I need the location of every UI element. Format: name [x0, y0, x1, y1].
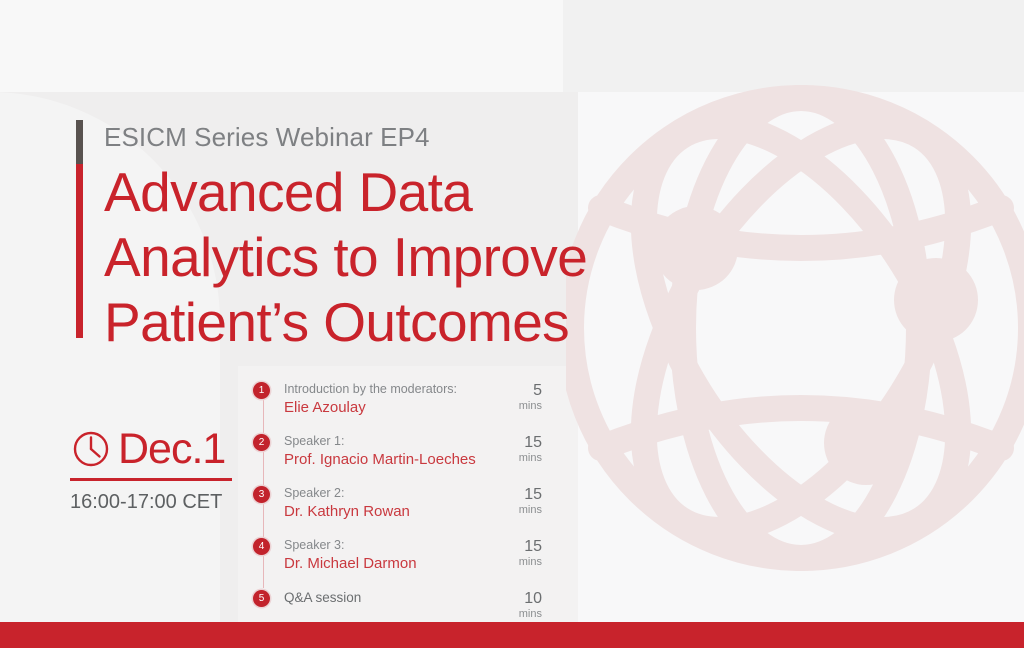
background-top-left-strip [0, 0, 563, 92]
agenda-list: 1 Introduction by the moderators: Elie A… [252, 380, 542, 636]
agenda-item-duration: 15 mins [490, 484, 542, 517]
agenda-item-text: Speaker 1: Prof. Ignacio Martin-Loeches [275, 432, 490, 470]
agenda-duration-unit: mins [490, 556, 542, 569]
agenda-item: 4 Speaker 3: Dr. Michael Darmon 15 mins [252, 536, 542, 584]
agenda-marker-number: 5 [253, 590, 270, 607]
agenda-item: 2 Speaker 1: Prof. Ignacio Martin-Loeche… [252, 432, 542, 480]
date-underline [70, 478, 232, 481]
agenda-item-role: Introduction by the moderators: [284, 381, 490, 398]
agenda-item-text: Introduction by the moderators: Elie Azo… [275, 380, 490, 418]
agenda-marker: 3 [252, 484, 275, 507]
agenda-marker-number: 3 [253, 486, 270, 503]
agenda-marker-number: 4 [253, 538, 270, 555]
title-line-3: Patient’s Outcomes [104, 290, 804, 355]
agenda-marker: 2 [252, 432, 275, 455]
background-top-right-strip [563, 0, 1024, 92]
date-time-block: Dec.1 16:00-17:00 CET [70, 424, 240, 514]
title-line-2: Analytics to Improve [104, 225, 804, 290]
agenda-item-duration: 5 mins [490, 380, 542, 413]
date-label: Dec.1 [118, 428, 225, 471]
agenda-duration-unit: mins [490, 504, 542, 517]
agenda-item-name: Prof. Ignacio Martin-Loeches [284, 450, 490, 470]
agenda-item-name: Q&A session [284, 589, 490, 607]
agenda-duration-unit: mins [490, 608, 542, 621]
agenda-item-name: Dr. Michael Darmon [284, 554, 490, 574]
agenda-duration-value: 15 [490, 486, 542, 504]
agenda-item: 1 Introduction by the moderators: Elie A… [252, 380, 542, 428]
agenda-duration-value: 15 [490, 434, 542, 452]
time-label: 16:00-17:00 CET [70, 491, 240, 514]
series-kicker: ESICM Series Webinar EP4 [104, 122, 430, 153]
agenda-item: 3 Speaker 2: Dr. Kathryn Rowan 15 mins [252, 484, 542, 532]
title-line-1: Advanced Data [104, 160, 804, 225]
page-title: Advanced Data Analytics to Improve Patie… [104, 160, 804, 355]
agenda-item-role: Speaker 3: [284, 537, 490, 554]
agenda-marker-number: 1 [253, 382, 270, 399]
agenda-marker: 5 [252, 588, 275, 611]
agenda-item-text: Q&A session [275, 588, 490, 607]
bottom-red-band [0, 622, 1024, 648]
agenda-marker: 1 [252, 380, 275, 403]
title-accent-bar [76, 120, 83, 338]
agenda-item-duration: 10 mins [490, 588, 542, 621]
agenda-item-role: Speaker 2: [284, 485, 490, 502]
agenda-item-text: Speaker 2: Dr. Kathryn Rowan [275, 484, 490, 522]
agenda-duration-unit: mins [490, 452, 542, 465]
agenda-duration-value: 15 [490, 538, 542, 556]
agenda-item-role: Speaker 1: [284, 433, 490, 450]
agenda-item-text: Speaker 3: Dr. Michael Darmon [275, 536, 490, 574]
agenda-item-name: Dr. Kathryn Rowan [284, 502, 490, 522]
accent-bar-red-segment [76, 164, 83, 338]
agenda-duration-value: 10 [490, 590, 542, 608]
agenda-item-duration: 15 mins [490, 432, 542, 465]
date-row: Dec.1 [70, 424, 240, 474]
agenda-duration-unit: mins [490, 400, 542, 413]
accent-bar-gray-segment [76, 120, 83, 164]
agenda-marker-number: 2 [253, 434, 270, 451]
clock-icon [70, 428, 112, 470]
agenda-item-name: Elie Azoulay [284, 398, 490, 418]
webinar-poster: ESICM Series Webinar EP4 Advanced Data A… [0, 0, 1024, 648]
agenda-item-duration: 15 mins [490, 536, 542, 569]
agenda-marker: 4 [252, 536, 275, 559]
agenda-duration-value: 5 [490, 382, 542, 400]
